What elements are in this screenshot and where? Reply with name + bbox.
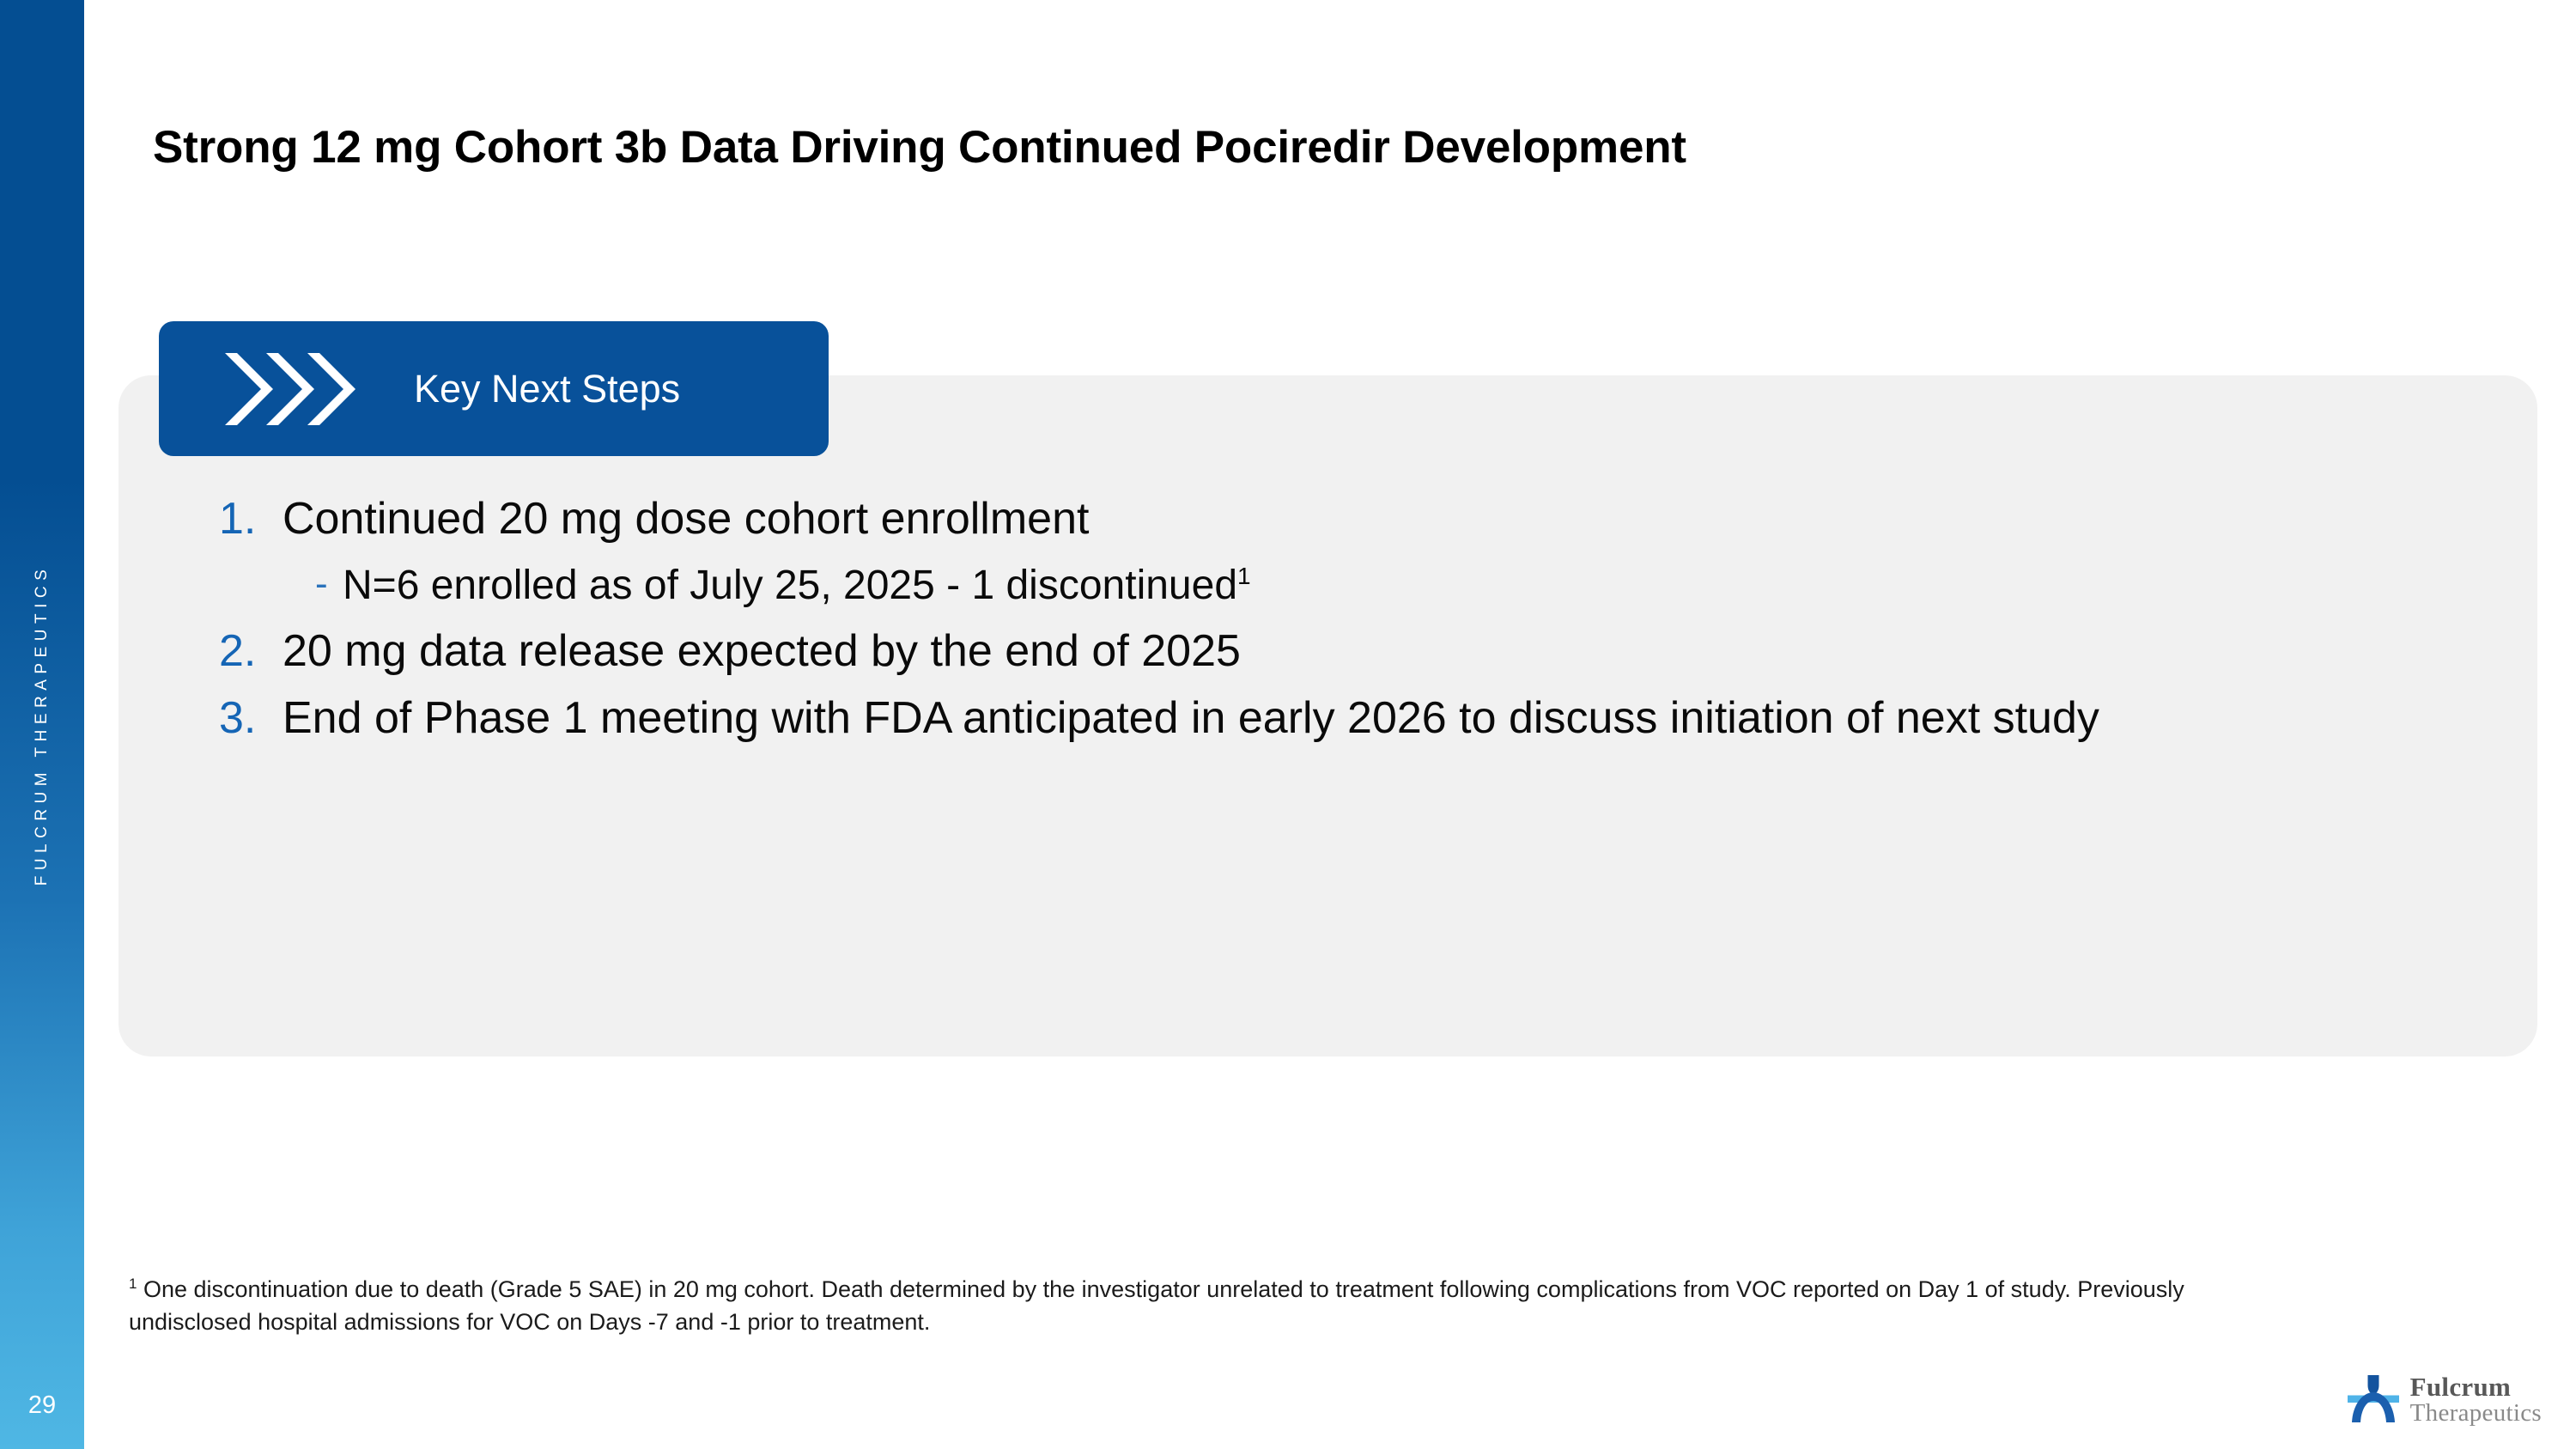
- page-number: 29: [0, 1391, 84, 1420]
- list-item: 3. End of Phase 1 meeting with FDA antic…: [219, 691, 2383, 747]
- sub-list-item-text: N=6 enrolled as of July 25, 2025 - 1 dis…: [343, 559, 1251, 612]
- slide-title: Strong 12 mg Cohort 3b Data Driving Cont…: [153, 121, 1686, 174]
- list-item-text: End of Phase 1 meeting with FDA anticipa…: [283, 691, 2099, 747]
- footnote-superscript-marker: 1: [1237, 563, 1251, 589]
- key-next-steps-list: 1. Continued 20 mg dose cohort enrollmen…: [219, 491, 2383, 758]
- list-item-number: 3.: [219, 691, 283, 747]
- sub-bullet-dash-icon: -: [315, 559, 343, 608]
- brand-rail: FULCRUM THERAPEUTICS 29: [0, 0, 84, 1449]
- fulcrum-figure-icon: [2347, 1373, 2400, 1427]
- footnote-marker: 1: [129, 1275, 137, 1292]
- sub-list-item: - N=6 enrolled as of July 25, 2025 - 1 d…: [315, 559, 2383, 612]
- fulcrum-logo-wordmark: Fulcrum Therapeutics: [2410, 1373, 2542, 1426]
- list-item: 1. Continued 20 mg dose cohort enrollmen…: [219, 491, 2383, 548]
- logo-line-1: Fulcrum: [2410, 1373, 2542, 1401]
- list-item-text: Continued 20 mg dose cohort enrollment: [283, 491, 1089, 548]
- list-item: 2. 20 mg data release expected by the en…: [219, 624, 2383, 680]
- triple-chevron-right-icon: [223, 350, 361, 428]
- footnote-text: One discontinuation due to death (Grade …: [129, 1276, 2184, 1335]
- list-item-text: 20 mg data release expected by the end o…: [283, 624, 1241, 680]
- sub-list-item-body: N=6 enrolled as of July 25, 2025 - 1 dis…: [343, 563, 1237, 608]
- list-item-number: 1.: [219, 491, 283, 548]
- logo-line-2: Therapeutics: [2410, 1401, 2542, 1427]
- list-item-number: 2.: [219, 624, 283, 680]
- fulcrum-logo: Fulcrum Therapeutics: [2347, 1373, 2542, 1427]
- brand-rail-label: FULCRUM THERAPEUTICS: [33, 563, 52, 886]
- key-next-steps-banner: Key Next Steps: [159, 321, 829, 456]
- banner-label: Key Next Steps: [414, 367, 680, 411]
- footnote: 1 One discontinuation due to death (Grad…: [129, 1273, 2293, 1339]
